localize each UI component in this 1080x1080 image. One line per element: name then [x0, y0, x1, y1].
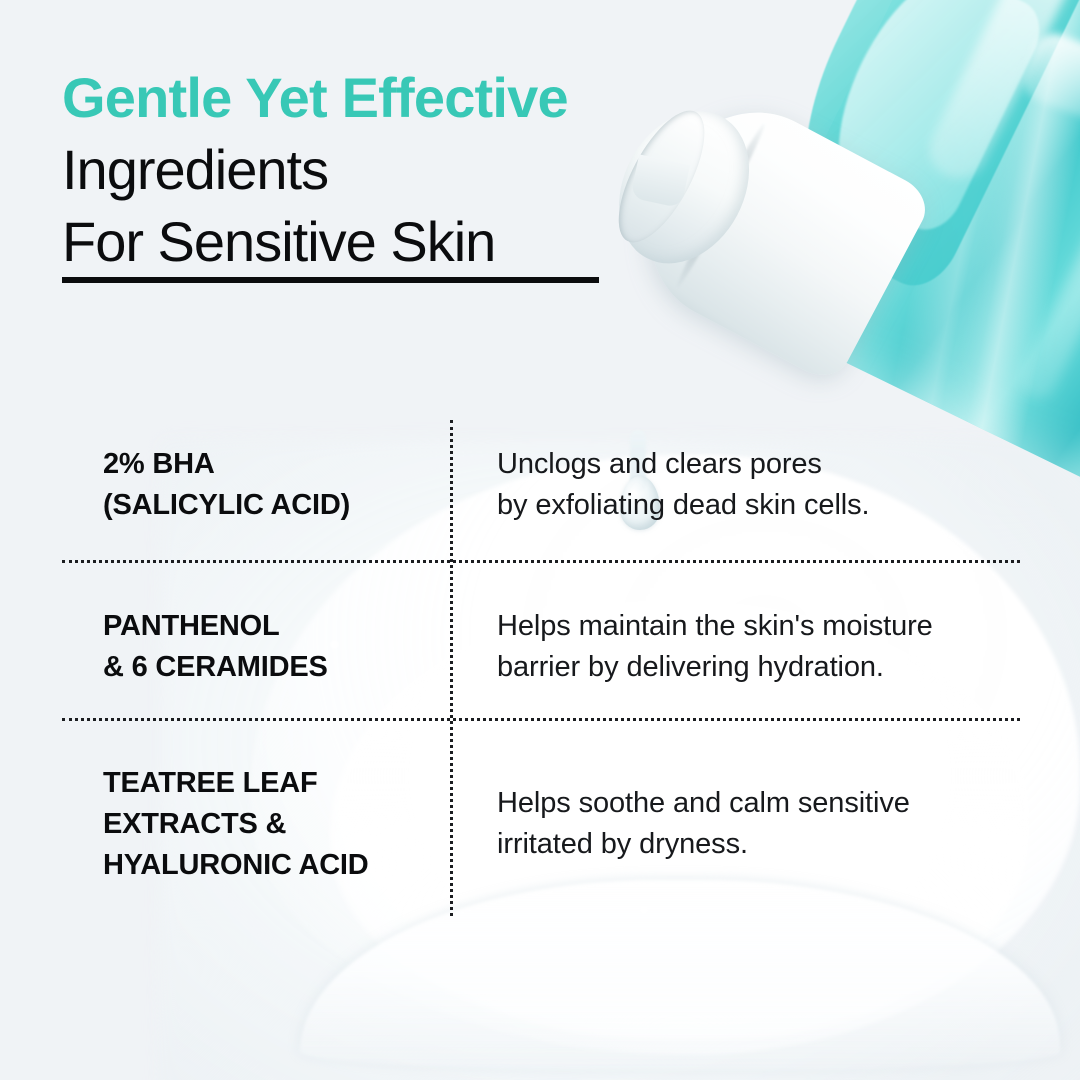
table-row-divider-2	[62, 718, 1020, 721]
ingredient-desc-1-line-1: Unclogs and clears pores	[497, 444, 1017, 485]
infographic-page: Gentle Yet Effective Ingredients For Sen…	[0, 0, 1080, 1080]
ingredient-name-3-line-2: EXTRACTS &	[103, 804, 433, 845]
ingredient-desc-2-line-1: Helps maintain the skin's moisture	[497, 606, 1017, 647]
ingredient-desc-1: Unclogs and clears pores by exfoliating …	[497, 444, 1017, 526]
ingredients-table: 2% BHA (SALICYLIC ACID) Unclogs and clea…	[0, 0, 1080, 1080]
ingredient-name-3-line-3: HYALURONIC ACID	[103, 845, 433, 886]
ingredient-desc-3: Helps soothe and calm sensitive irritate…	[497, 783, 1017, 865]
ingredient-desc-1-line-2: by exfoliating dead skin cells.	[497, 485, 1017, 526]
ingredient-name-3: TEATREE LEAF EXTRACTS & HYALURONIC ACID	[103, 763, 433, 886]
table-row-divider-1	[62, 560, 1020, 563]
ingredient-desc-3-line-1: Helps soothe and calm sensitive	[497, 783, 1017, 824]
ingredient-name-2: PANTHENOL & 6 CERAMIDES	[103, 606, 433, 688]
ingredient-name-2-line-1: PANTHENOL	[103, 606, 433, 647]
ingredient-name-3-line-1: TEATREE LEAF	[103, 763, 433, 804]
ingredient-name-1-line-2: (SALICYLIC ACID)	[103, 485, 433, 526]
ingredient-name-2-line-2: & 6 CERAMIDES	[103, 647, 433, 688]
table-vertical-divider	[450, 420, 453, 916]
ingredient-name-1: 2% BHA (SALICYLIC ACID)	[103, 444, 433, 526]
ingredient-desc-2-line-2: barrier by delivering hydration.	[497, 647, 1017, 688]
ingredient-desc-2: Helps maintain the skin's moisture barri…	[497, 606, 1017, 688]
content-layer: Gentle Yet Effective Ingredients For Sen…	[0, 0, 1080, 1080]
ingredient-desc-3-line-2: irritated by dryness.	[497, 824, 1017, 865]
ingredient-name-1-line-1: 2% BHA	[103, 444, 433, 485]
